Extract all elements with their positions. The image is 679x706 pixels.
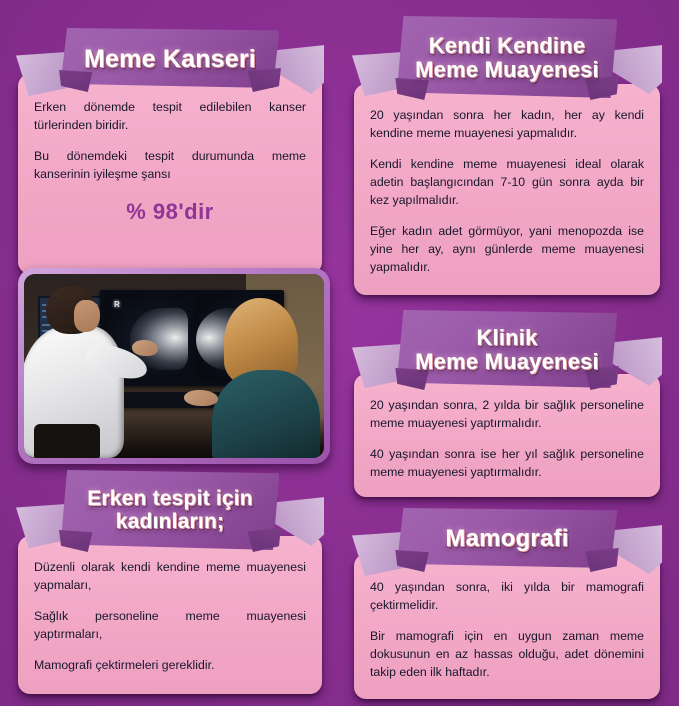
- infographic-root: Meme Kanseri Erken dönemde tespit edileb…: [0, 0, 679, 706]
- title-line: kadınların;: [116, 511, 224, 534]
- panel-breast-cancer-body: Erken dönemde tespit edilebilen kanser t…: [18, 74, 322, 274]
- photo-chair: [34, 424, 100, 458]
- panel-early-detection-body: Düzenli olarak kendi kendine meme muayen…: [18, 536, 322, 694]
- photo-image: R L: [24, 274, 324, 458]
- panel-self-exam-body: 20 yaşından sonra her kadın, her ay kend…: [354, 84, 660, 295]
- paragraph: Bu dönemdeki tespit durumunda meme kanse…: [34, 147, 306, 183]
- paragraph: 40 yaşından sonra ise her yıl sağlık per…: [370, 445, 644, 481]
- mammogram-consultation-photo: R L: [18, 268, 330, 464]
- right-column: Kendi Kendine Meme Muayenesi 20 yaşından…: [340, 0, 679, 706]
- panel-clinical-exam-body: 20 yaşından sonra, 2 yılda bir sağlık pe…: [354, 374, 660, 497]
- title-line: Klinik: [476, 326, 537, 350]
- photo-doctor-hand: [132, 340, 158, 356]
- panel-early-detection: Erken tespit için kadınların; Düzenli ol…: [18, 470, 322, 694]
- panel-mammography-body: 40 yaşından sonra, iki yılda bir mamogra…: [354, 554, 660, 699]
- title-line: Mamografi: [445, 526, 568, 552]
- title-line: Meme Muayenesi: [415, 350, 599, 374]
- left-column: Meme Kanseri Erken dönemde tespit edileb…: [0, 0, 340, 706]
- panel-mammography: Mamografi 40 yaşından sonra, iki yılda b…: [354, 508, 660, 699]
- photo-doctor-face: [74, 300, 100, 332]
- photo-patient-shoulder: [212, 370, 320, 458]
- photo-patient-hand: [184, 390, 218, 406]
- paragraph: Sağlık personeline meme muayenesi yaptır…: [34, 607, 306, 643]
- paragraph: 40 yaşından sonra, iki yılda bir mamogra…: [370, 578, 644, 614]
- panel-breast-cancer: Meme Kanseri Erken dönemde tespit edileb…: [18, 28, 322, 274]
- title-line: Erken tespit için: [87, 488, 253, 511]
- paragraph: Erken dönemde tespit edilebilen kanser t…: [34, 98, 306, 134]
- paragraph: Eğer kadın adet görmüyor, yani menopozda…: [370, 222, 644, 276]
- paragraph: Kendi kendine meme muayenesi ideal olara…: [370, 155, 644, 209]
- paragraph: Mamografi çektirmeleri gereklidir.: [34, 656, 306, 674]
- title-line: Kendi Kendine: [429, 34, 586, 58]
- panel-clinical-exam: Klinik Meme Muayenesi 20 yaşından sonra,…: [354, 310, 660, 497]
- paragraph: 20 yaşından sonra, 2 yılda bir sağlık pe…: [370, 396, 644, 432]
- photo-monitor-label-r: R: [114, 300, 120, 309]
- highlight-percentage: % 98'dir: [34, 196, 306, 228]
- paragraph: Bir mamografi için en uygun zaman meme d…: [370, 627, 644, 681]
- title-line: Meme Kanseri: [84, 46, 256, 73]
- panel-self-exam: Kendi Kendine Meme Muayenesi 20 yaşından…: [354, 16, 660, 295]
- paragraph: Düzenli olarak kendi kendine meme muayen…: [34, 558, 306, 594]
- title-line: Meme Muayenesi: [415, 58, 599, 82]
- paragraph: 20 yaşından sonra her kadın, her ay kend…: [370, 106, 644, 142]
